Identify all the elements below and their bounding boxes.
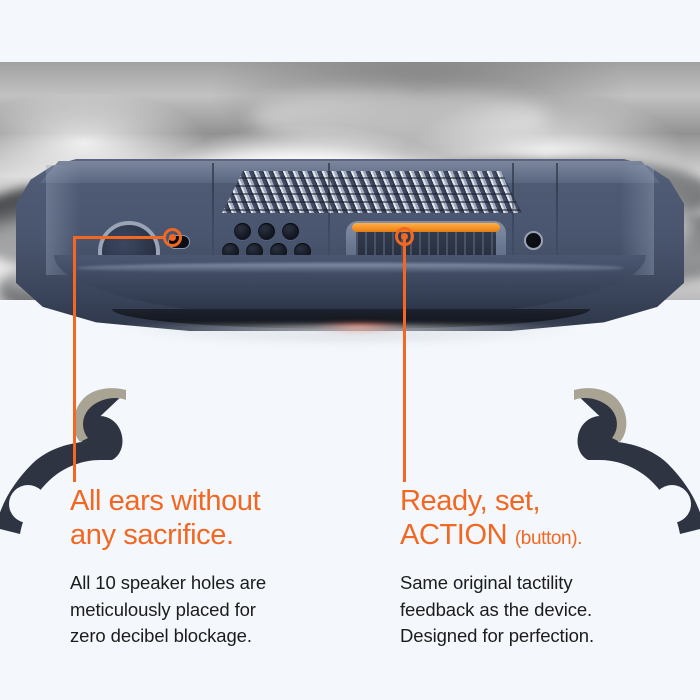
speaker-callout-line-horizontal [73,236,165,239]
button-headline-line1: Ready, set, [400,484,700,518]
product-case-illustration [0,150,700,380]
speaker-headline-line2: any sacrifice. [70,518,370,552]
speaker-hole [258,223,275,240]
speaker-body-line1: All 10 speaker holes are [70,570,370,596]
speaker-callout-line-vertical [73,236,76,482]
product-feature-page: All ears without any sacrifice. All 10 s… [0,0,700,700]
speaker-text-block: All ears without any sacrifice. All 10 s… [70,484,370,649]
microphone-port [524,231,543,250]
case-body [16,159,684,335]
cloud-top [250,88,550,148]
case-lower-gloss [76,263,624,273]
speaker-headline-line1: All ears without [70,484,370,518]
button-callout-line-vertical [403,236,406,482]
button-headline-action: ACTION [400,519,507,551]
button-headline: Ready, set, ACTION (button). [400,484,700,552]
case-seam-mid-left [328,163,330,255]
button-headline-suffix: (button). [515,528,582,549]
speaker-body-line3: zero decibel blockage. [70,623,370,649]
button-body-line2: feedback as the device. [400,597,700,623]
speaker-body: All 10 speaker holes are meticulously pl… [70,570,370,649]
action-button-bar-top [352,223,500,232]
speaker-hole [234,223,251,240]
case-seam-left [212,163,214,255]
speaker-headline: All ears without any sacrifice. [70,484,370,552]
case-seam-mid-right [512,163,514,255]
case-seam-right [556,163,558,255]
case-bottom-rim-light [106,325,596,341]
button-callout-dot [395,227,414,246]
carbon-fiber-rows [222,171,522,213]
speaker-hole [282,223,299,240]
button-headline-line2: ACTION (button). [400,518,700,552]
button-text-block: Ready, set, ACTION (button). Same origin… [400,484,700,649]
button-body-line3: Designed for perfection. [400,623,700,649]
speaker-callout-dot [163,228,182,247]
speaker-body-line2: meticulously placed for [70,597,370,623]
button-body-line1: Same original tactility [400,570,700,596]
button-body: Same original tactility feedback as the … [400,570,700,649]
carbon-fiber-texture [222,171,522,213]
